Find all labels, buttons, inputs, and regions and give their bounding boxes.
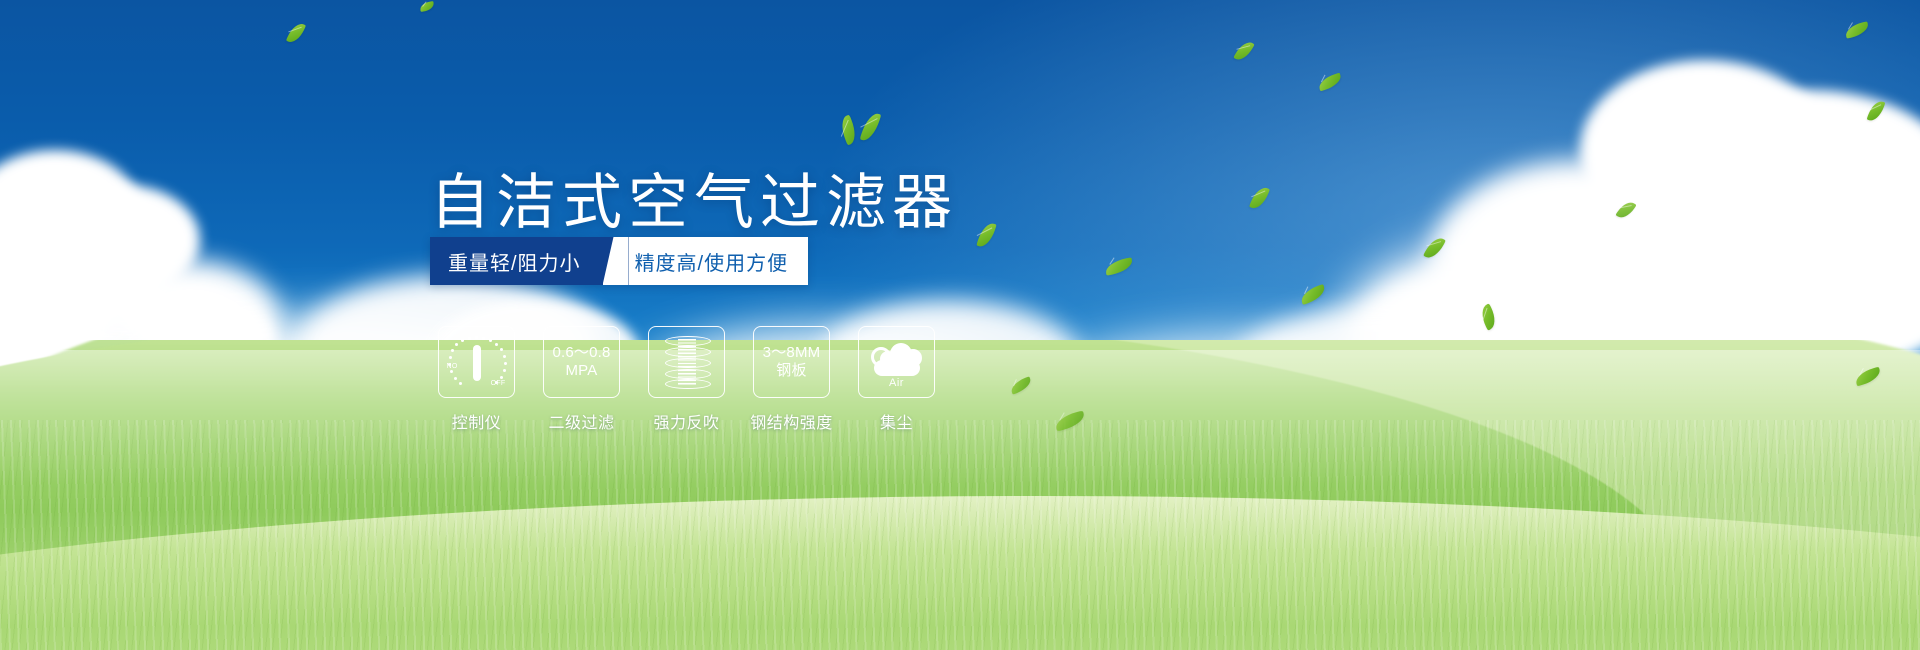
pressure-unit: MPA (552, 362, 610, 380)
page-title: 自洁式空气过滤器 (430, 173, 958, 233)
steel-thickness: 3～8MM (763, 344, 821, 362)
gauge-icon: NO OFF (448, 336, 506, 388)
pressure-text: 0.6～0.8 MPA (552, 344, 610, 380)
air-swirl (871, 347, 891, 367)
feature-icon-box: NO OFF (438, 326, 515, 398)
gauge-on-label: NO (447, 363, 458, 370)
feature-item-backblow[interactable]: 强力反吹 (648, 326, 725, 433)
feature-badge: 重量轻/阻力小 精度高/使用方便 (430, 237, 808, 285)
gauge-off-label: OFF (491, 380, 506, 387)
feature-caption: 强力反吹 (653, 409, 719, 433)
feature-icon-box: Air (858, 326, 935, 398)
leaf-icon (837, 115, 860, 146)
feature-caption: 控制仪 (452, 409, 502, 433)
badge-divider (603, 237, 629, 285)
banner-content: 自洁式空气过滤器 重量轻/阻力小 精度高/使用方便 (0, 0, 1920, 650)
leaf-icon (860, 111, 882, 144)
feature-item-dust[interactable]: Air 集尘 (858, 326, 935, 433)
steel-material: 钢板 (763, 362, 821, 380)
gauge-needle (473, 345, 481, 381)
badge-right-label: 精度高/使用方便 (629, 237, 809, 285)
feature-list: NO OFF 控制仪 0.6～0.8 MPA 二级过滤 (438, 326, 935, 433)
feature-item-controller[interactable]: NO OFF 控制仪 (438, 326, 515, 433)
feature-caption: 二级过滤 (548, 409, 614, 433)
feature-icon-box: 0.6～0.8 MPA (543, 326, 620, 398)
coil-filter-icon (665, 336, 709, 388)
feature-item-filtration[interactable]: 0.6～0.8 MPA 二级过滤 (543, 326, 620, 433)
feature-caption: 集尘 (880, 409, 913, 433)
title-leaf-decoration (838, 108, 898, 154)
badge-left-label: 重量轻/阻力小 (430, 237, 603, 285)
air-label: Air (870, 377, 924, 389)
feature-icon-box (648, 326, 725, 398)
hero-banner: 自洁式空气过滤器 重量轻/阻力小 精度高/使用方便 (0, 0, 1920, 650)
pressure-value: 0.6～0.8 (552, 344, 610, 362)
air-cloud-icon: Air (870, 339, 924, 385)
steel-plate-text: 3～8MM 钢板 (763, 344, 821, 380)
feature-icon-box: 3～8MM 钢板 (753, 326, 830, 398)
feature-caption: 钢结构强度 (750, 409, 833, 433)
feature-item-steel[interactable]: 3～8MM 钢板 钢结构强度 (753, 326, 830, 433)
